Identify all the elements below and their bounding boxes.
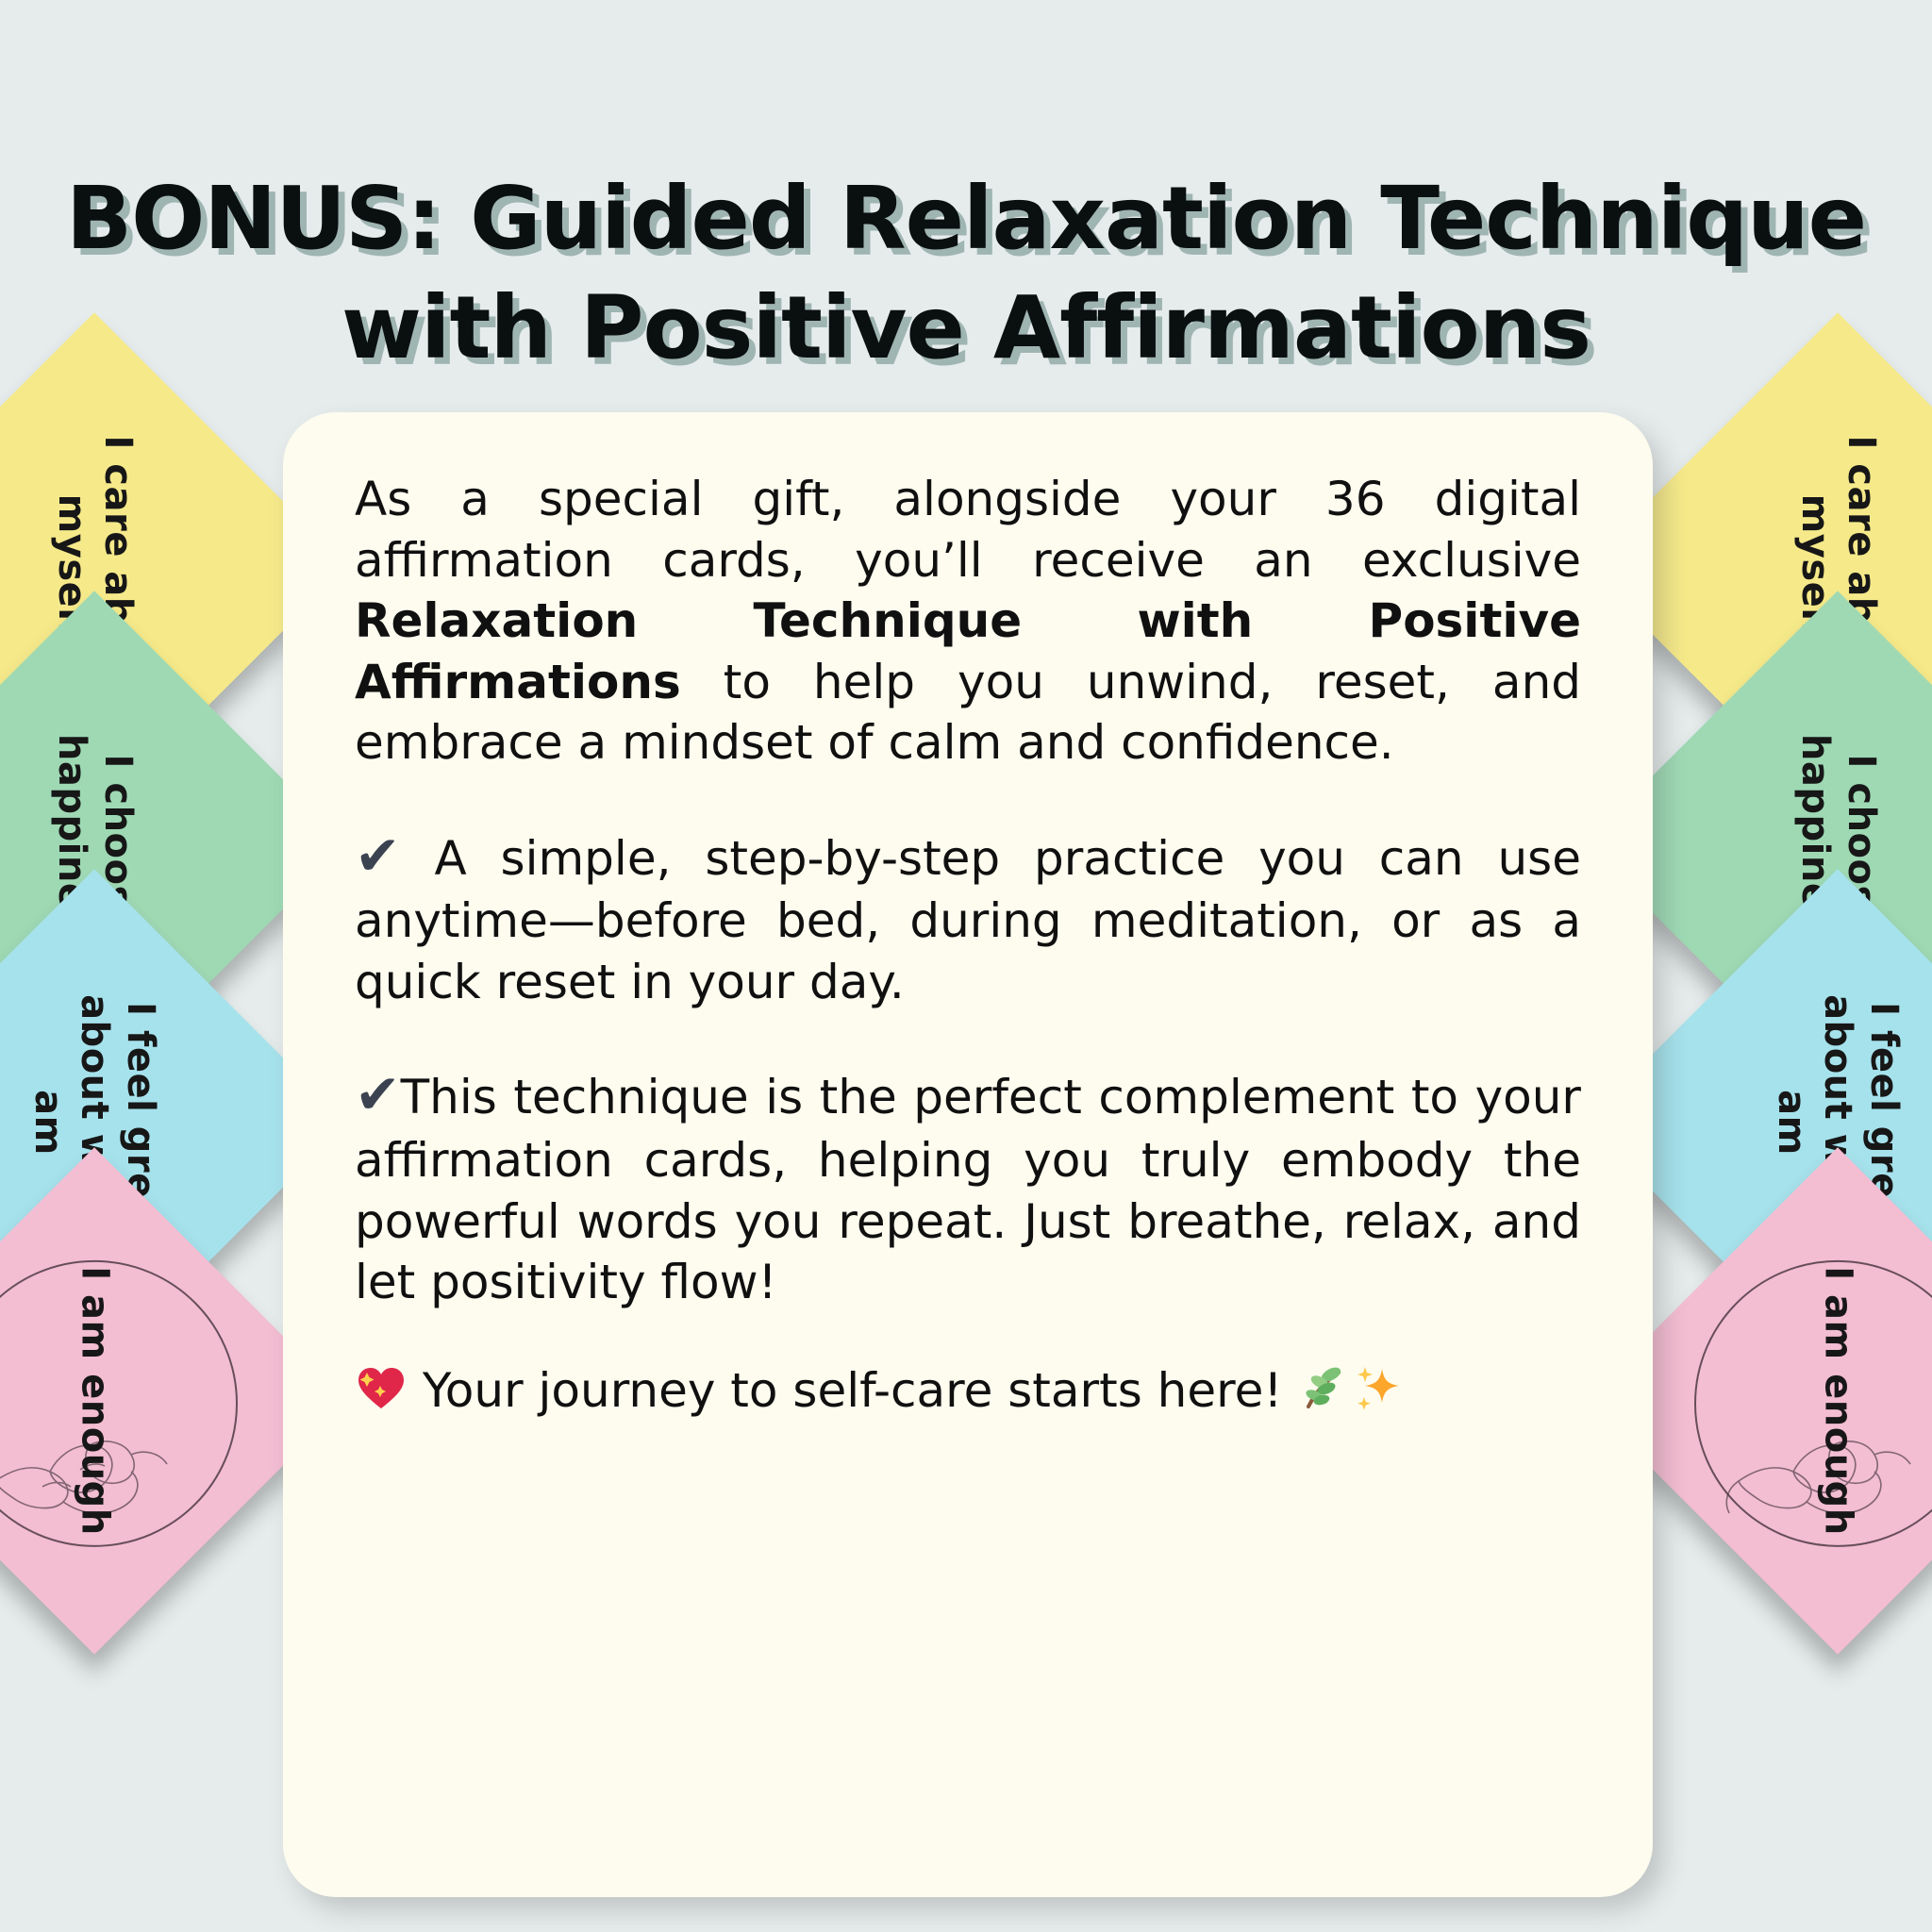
intro-text-a: As a special gift, alongside your 36 dig… [355, 472, 1581, 588]
content-card: As a special gift, alongside your 36 dig… [283, 412, 1653, 1897]
sticky-note-label: I am enough [1815, 1259, 1861, 1542]
sticky-note-label: I am enough [72, 1259, 118, 1542]
page-title-line-2: with Positive Affirmations [57, 274, 1875, 383]
paragraph-bullet-2: ✔This technique is the perfect complemen… [355, 1059, 1581, 1312]
floral-line-art-icon [1682, 1245, 1932, 1557]
bullet-1-text: A simple, step-by-step practice you can … [355, 831, 1581, 1009]
body-copy: As a special gift, alongside your 36 dig… [355, 469, 1581, 1421]
page-title: BONUS: Guided Relaxation Technique with … [0, 164, 1932, 383]
bullet-2-text: This technique is the perfect complement… [355, 1070, 1581, 1309]
checkmark-icon: ✔ [355, 1062, 401, 1126]
checkmark-icon: ✔ [355, 824, 401, 888]
sparkling-heart-icon [355, 1361, 408, 1414]
paragraph-intro: As a special gift, alongside your 36 dig… [355, 469, 1581, 774]
paragraph-bullet-1: ✔ A simple, step-by-step practice you ca… [355, 821, 1581, 1013]
page-title-line-1: BONUS: Guided Relaxation Technique [57, 164, 1875, 274]
herb-icon [1297, 1361, 1350, 1414]
paragraph-closing: Your journey to self-care starts here! [355, 1360, 1581, 1422]
closing-text: Your journey to self-care starts here! [408, 1363, 1297, 1418]
sparkles-icon [1350, 1361, 1403, 1414]
floral-line-art-icon [0, 1245, 250, 1557]
